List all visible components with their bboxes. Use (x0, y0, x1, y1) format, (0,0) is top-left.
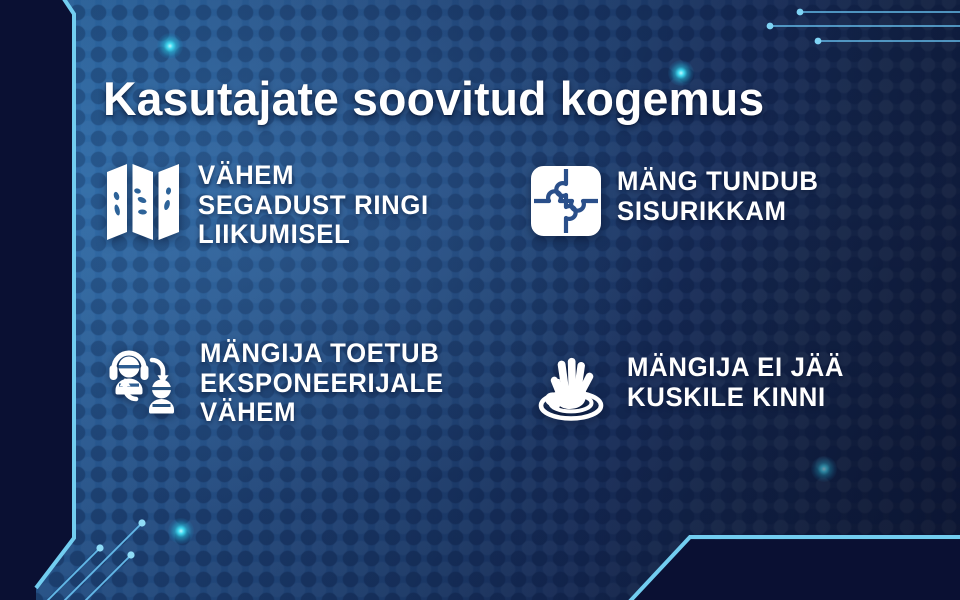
feature-label: MÄNGIJA EI JÄÄ KUSKILE KINNI (627, 352, 844, 412)
feature-item-less-confusion-moving-around: VÄHEM SEGADUST RINGI LIIKUMISEL (104, 160, 436, 250)
feature-item-game-feels-richer: MÄNG TUNDUB SISURIKKAM (531, 166, 825, 236)
support-handover-icon (104, 338, 184, 418)
feature-item-player-does-not-get-stuck: MÄNGIJA EI JÄÄ KUSKILE KINNI (531, 352, 851, 426)
slide-canvas: Kasutajate soovitud kogemus (0, 0, 960, 600)
puzzle-pieces-icon (531, 166, 601, 236)
feature-label: MÄNG TUNDUB SISURIKKAM (617, 166, 819, 226)
hand-stuck-in-hole-icon (531, 352, 611, 426)
feature-item-player-relies-less-on-host: MÄNGIJA TOETUB EKSPONEERIJALE VÄHEM (104, 338, 451, 428)
feature-label: VÄHEM SEGADUST RINGI LIIKUMISEL (198, 160, 429, 250)
feature-list: VÄHEM SEGADUST RINGI LIIKUMISEL (0, 0, 960, 600)
feature-label: MÄNGIJA TOETUB EKSPONEERIJALE VÄHEM (200, 338, 444, 428)
folded-map-icon (104, 160, 182, 244)
